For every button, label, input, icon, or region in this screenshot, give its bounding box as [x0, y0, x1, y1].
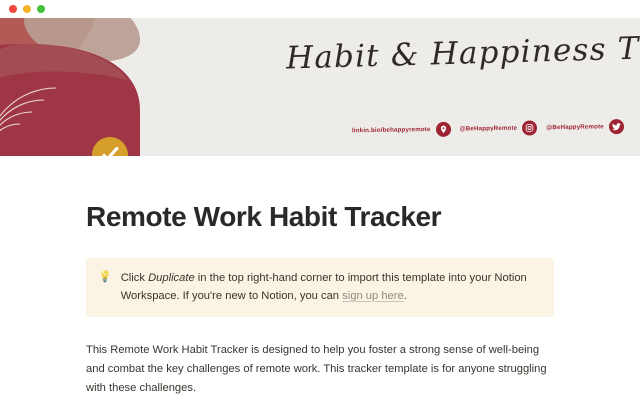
page-cover-banner: Habit & Happiness Trackers linkin.bio/be…: [0, 18, 640, 156]
social-link-label: @BeHappyRemote: [546, 123, 604, 131]
page-content: Remote Work Habit Tracker 💡 Click Duplic…: [0, 200, 640, 400]
banner-decorative-art: [0, 18, 260, 156]
maximize-window-button[interactable]: [37, 5, 45, 13]
social-links-row: linkin.bio/behappyremote @BeHappyRemote: [352, 119, 624, 138]
sign-up-link[interactable]: sign up here: [342, 290, 404, 302]
close-window-button[interactable]: [9, 5, 17, 13]
browser-window: Habit & Happiness Trackers linkin.bio/be…: [0, 0, 640, 400]
social-link-label: linkin.bio/behappyremote: [352, 126, 431, 134]
check-badge: [92, 137, 128, 156]
social-link-twitter[interactable]: @BeHappyRemote: [546, 119, 624, 135]
social-link-label: @BeHappyRemote: [460, 125, 518, 133]
instagram-icon[interactable]: [522, 120, 537, 135]
twitter-icon[interactable]: [609, 119, 624, 134]
banner-script-title: Habit & Happiness Trackers: [286, 32, 627, 77]
info-callout: 💡 Click Duplicate in the top right-hand …: [86, 258, 554, 317]
callout-text-end: .: [404, 290, 407, 302]
page-title: Remote Work Habit Tracker: [86, 200, 554, 234]
callout-emphasis: Duplicate: [148, 272, 195, 284]
intro-paragraph: This Remote Work Habit Tracker is design…: [86, 341, 554, 398]
lightbulb-icon: 💡: [98, 269, 112, 285]
minimize-window-button[interactable]: [23, 5, 31, 13]
callout-text: Click Duplicate in the top right-hand co…: [121, 269, 540, 305]
social-link-linkinbio[interactable]: linkin.bio/behappyremote: [352, 122, 451, 139]
window-titlebar: [0, 0, 640, 18]
location-pin-icon[interactable]: [436, 122, 451, 137]
callout-text-lead: Click: [121, 272, 148, 284]
social-link-instagram[interactable]: @BeHappyRemote: [460, 120, 538, 136]
